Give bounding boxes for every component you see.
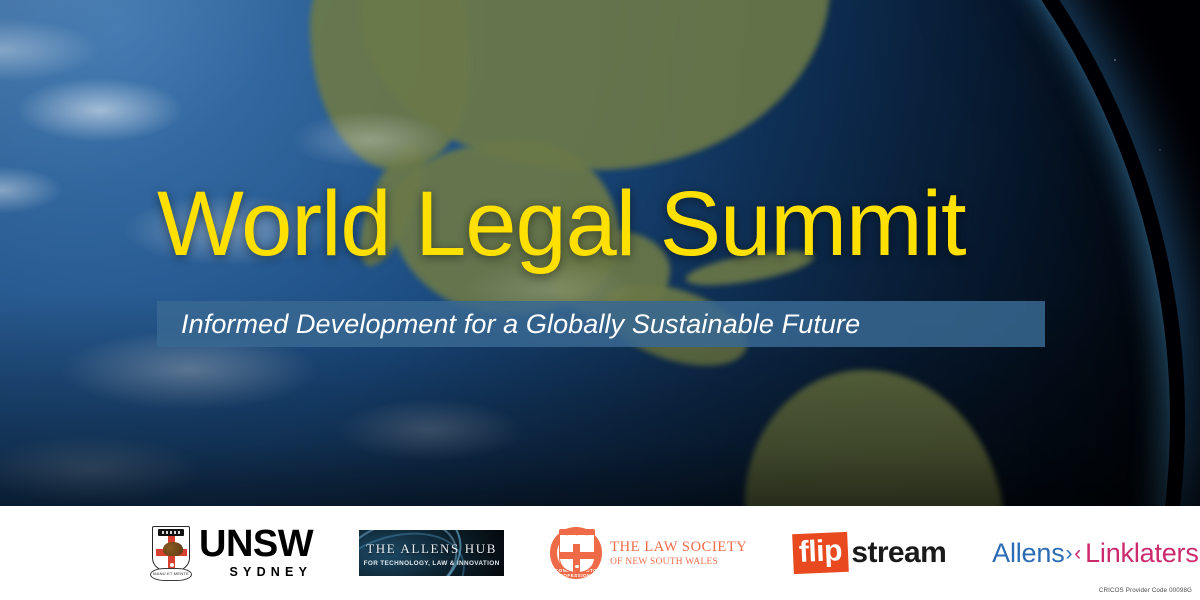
law-society-title: THE LAW SOCIETY (610, 539, 747, 556)
unsw-crest-icon: MANU ET MENTE (150, 526, 190, 580)
unsw-wordmark: UNSW SYDNEY (199, 527, 313, 579)
law-society-crest-icon: COMMUNI VOTO PROFESSIONIS (550, 527, 602, 579)
chevron-left-icon: ‹ (1073, 543, 1085, 564)
cricos-provider-code: CRICOS Provider Code 00098G (1099, 587, 1192, 594)
allens-hub-title: THE ALLENS HUB (359, 541, 504, 557)
chevron-right-icon: › (1065, 543, 1074, 564)
hero-background: World Legal Summit Informed Development … (0, 0, 1200, 506)
logo-unsw-sydney[interactable]: MANU ET MENTE UNSW SYDNEY (150, 526, 313, 580)
linklaters-word: Linklaters (1085, 540, 1199, 567)
logo-allens-hub[interactable]: THE ALLENS HUB FOR TECHNOLOGY, LAW & INN… (359, 530, 504, 576)
subtitle-banner: Informed Development for a Globally Sust… (157, 301, 1045, 347)
allens-word: Allens (992, 540, 1064, 567)
page-subtitle: Informed Development for a Globally Sust… (157, 309, 860, 340)
page-title: World Legal Summit (157, 178, 966, 270)
unsw-subline: SYDNEY (199, 565, 313, 579)
logo-allens-linklaters[interactable]: Allens › ‹ Linklaters (992, 540, 1199, 567)
law-society-subtitle: OF NEW SOUTH WALES (610, 557, 747, 567)
flipstream-stream: stream (851, 538, 946, 568)
law-society-wordmark: THE LAW SOCIETY OF NEW SOUTH WALES (610, 539, 747, 567)
unsw-name: UNSW (199, 527, 313, 562)
allens-hub-text: THE ALLENS HUB FOR TECHNOLOGY, LAW & INN… (359, 541, 504, 567)
logo-law-society-nsw[interactable]: COMMUNI VOTO PROFESSIONIS THE LAW S (550, 527, 747, 579)
logo-row: MANU ET MENTE UNSW SYDNEY THE ALLENS HUB… (0, 506, 1200, 600)
world-legal-summit-banner: World Legal Summit Informed Development … (0, 0, 1200, 600)
sponsor-logo-strip: MANU ET MENTE UNSW SYDNEY THE ALLENS HUB… (0, 506, 1200, 600)
allens-hub-box: THE ALLENS HUB FOR TECHNOLOGY, LAW & INN… (359, 530, 504, 576)
allens-hub-tagline: FOR TECHNOLOGY, LAW & INNOVATION (359, 560, 504, 567)
logo-flipstream[interactable]: flip stream (793, 533, 946, 573)
flipstream-flip: flip (793, 532, 850, 574)
unsw-motto-scroll: MANU ET MENTE (150, 568, 192, 581)
